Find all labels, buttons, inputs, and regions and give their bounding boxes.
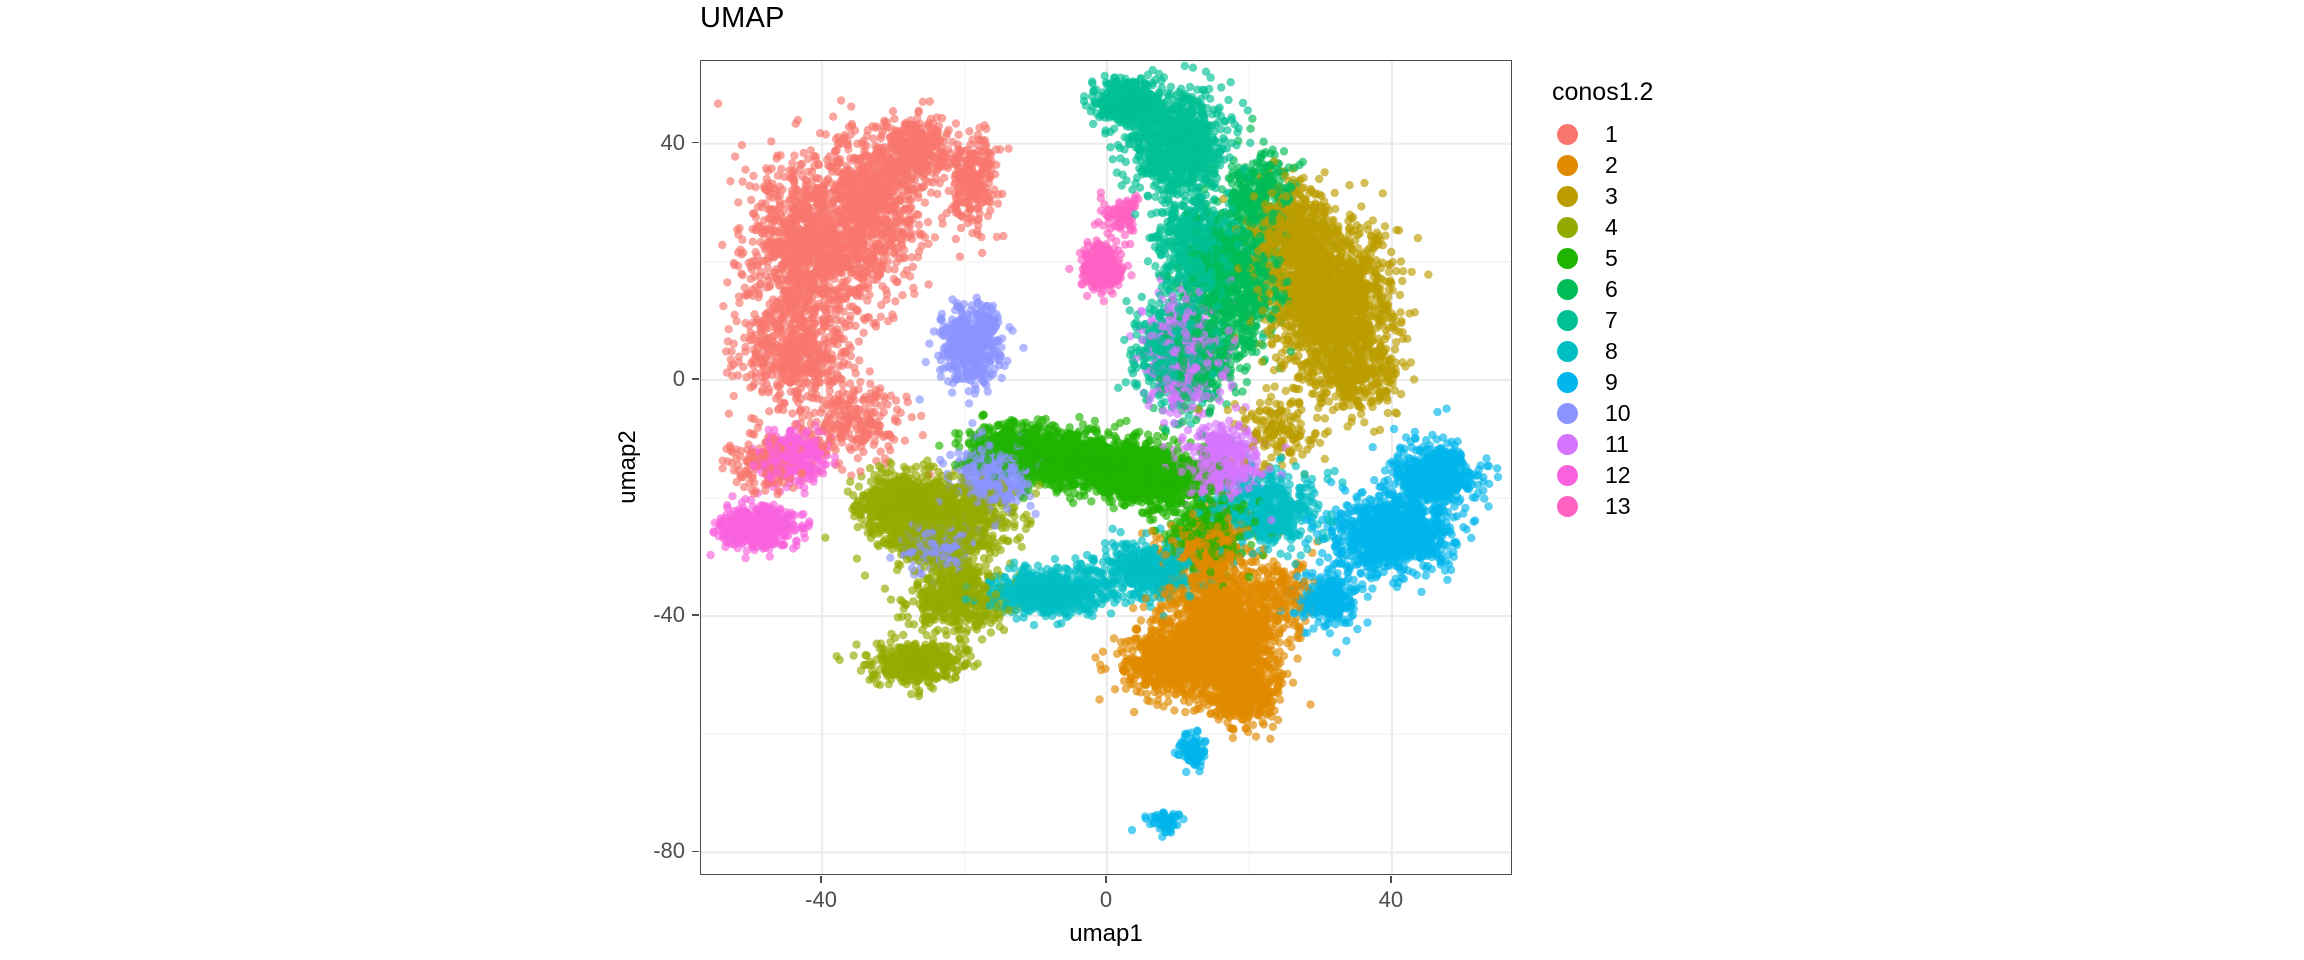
scatter-point (1186, 83, 1194, 91)
scatter-point (1189, 64, 1197, 72)
scatter-point (1030, 621, 1038, 629)
scatter-point (744, 440, 752, 448)
scatter-point (1424, 270, 1432, 278)
page-title: UMAP (700, 2, 785, 35)
scatter-point (1114, 384, 1122, 392)
scatter-point (1345, 181, 1353, 189)
scatter-point (1246, 139, 1254, 147)
scatter-point (725, 410, 733, 418)
scatter-point (1051, 555, 1059, 563)
scatter-point (790, 151, 798, 159)
scatter-point (1026, 502, 1034, 510)
scatter-point (1244, 106, 1252, 114)
plot-panel (700, 60, 1512, 875)
scatter-point (1405, 309, 1413, 317)
scatter-point (917, 412, 925, 420)
scatter-point (1342, 637, 1350, 645)
scatter-point (1413, 571, 1421, 579)
scatter-point (889, 107, 897, 115)
umap-scatter-plot-figure: UMAP 400-40-80-40040 umap2 umap1 conos1.… (0, 0, 2304, 960)
scatter-point (1227, 78, 1235, 86)
scatter-point (925, 340, 933, 348)
scatter-point (855, 356, 863, 364)
scatter-point (1293, 654, 1301, 662)
scatter-point (1075, 413, 1083, 421)
scatter-point (849, 651, 857, 659)
scatter-point (1321, 455, 1329, 463)
scatter-point (738, 141, 746, 149)
scatter-points (701, 61, 1511, 874)
scatter-point (1313, 414, 1321, 422)
scatter-point (1369, 443, 1377, 451)
scatter-point (1224, 96, 1232, 104)
scatter-point (718, 241, 726, 249)
scatter-point (1110, 634, 1118, 642)
scatter-point (1111, 685, 1119, 693)
scatter-point (1316, 558, 1324, 566)
scatter-point (1138, 293, 1146, 301)
scatter-point (952, 235, 960, 243)
